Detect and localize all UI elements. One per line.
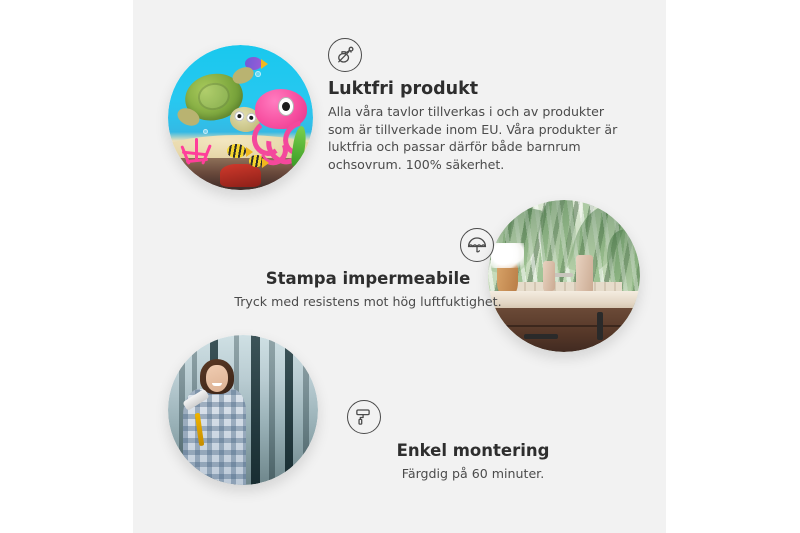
icon-row (323, 400, 623, 434)
no-odour-perfume-bottle-icon (328, 38, 362, 72)
feature-description: Tryck med resistens mot hög luftfuktighe… (218, 293, 518, 311)
bubble-icon (255, 71, 261, 77)
feature-description: Färgdig på 60 minuter. (323, 465, 623, 483)
bathroom-bottle (543, 261, 555, 291)
feature-description: Alla våra tavlor tillverkas i och av pro… (328, 103, 628, 173)
product-feature-banner: Luktfri produkt Alla våra tavlor tillver… (0, 0, 800, 533)
bubble-icon (203, 129, 208, 134)
paint-roller-icon (347, 400, 381, 434)
pink-coral (178, 138, 216, 173)
turtle-eye (234, 111, 246, 123)
forest-tree (303, 335, 309, 485)
woman-paint-roller-photo (168, 335, 318, 485)
wooden-cabinet (488, 308, 640, 352)
icon-row (218, 228, 518, 262)
forest-tree (285, 335, 293, 485)
banner-canvas: Luktfri produkt Alla våra tavlor tillver… (133, 0, 666, 533)
underwater-cartoon-photo (168, 45, 313, 190)
feature-title: Stampa impermeabile (218, 268, 518, 290)
forest-tree (269, 335, 275, 485)
feature-block-waterproof: Stampa impermeabile Tryck med resistens … (218, 228, 518, 311)
feature-title: Enkel montering (323, 440, 623, 462)
faucet (552, 273, 573, 277)
sea-red-object (220, 164, 261, 187)
cabinet-handle (597, 312, 602, 339)
yellow-fish (249, 155, 264, 167)
woman-face (206, 365, 229, 392)
icon-row (328, 38, 628, 72)
feature-title: Luktfri produkt (328, 78, 628, 100)
feature-block-odourless: Luktfri produkt Alla våra tavlor tillver… (328, 38, 628, 173)
bathroom-bottle (576, 255, 593, 293)
cabinet-handle (524, 334, 557, 339)
forest-tree (251, 335, 260, 485)
umbrella-icon (460, 228, 494, 262)
cabinet-drawer-line (497, 325, 631, 327)
feature-block-easy-install: Enkel montering Färgdig på 60 minuter. (323, 400, 623, 483)
